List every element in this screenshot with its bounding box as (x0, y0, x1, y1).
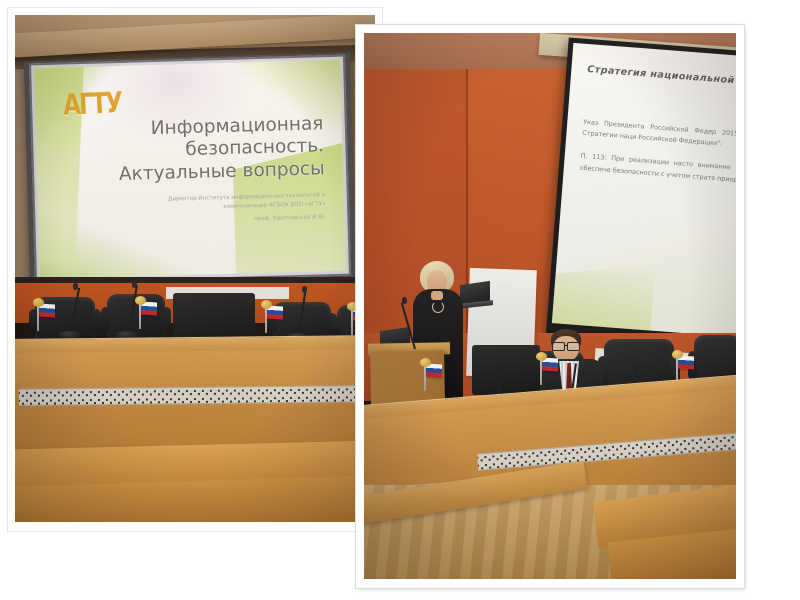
flag-stand (261, 300, 272, 309)
presidium-monitor (173, 293, 255, 341)
speaker-neck (431, 291, 443, 300)
microphone-head (73, 283, 78, 290)
slide-paragraph-1: Указ Президента Российской Федер 2015 го… (582, 117, 736, 154)
podium-microphone-head (402, 297, 407, 304)
presidium-monitor (472, 345, 540, 395)
table-perforated-panel (19, 385, 371, 406)
speaker-necklace (432, 301, 444, 313)
flag-stand (33, 298, 44, 307)
projection-screen-right: Стратегия национальной бе Указ Президент… (546, 37, 736, 352)
table-perforated-panel (477, 430, 736, 471)
photo-right-content: Стратегия национальной бе Указ Президент… (364, 33, 736, 579)
slide-body: Указ Президента Российской Федер 2015 го… (579, 117, 736, 200)
slide-green-accent (552, 265, 656, 338)
flag-stand (672, 350, 683, 359)
microphone-head (302, 286, 307, 293)
agtu-logo-icon: АГТУ (62, 87, 121, 122)
photo-left-content: АГТУ Информационная безопасность. Актуал… (15, 15, 375, 522)
photo-right[interactable]: Стратегия национальной бе Указ Президент… (356, 25, 744, 588)
microphone-head (132, 281, 137, 288)
collage-canvas: АГТУ Информационная безопасность. Актуал… (0, 0, 800, 600)
flag-stand (135, 296, 146, 305)
slide-paragraph-2: П. 113: При реализации насто внимание уд… (580, 151, 736, 188)
slide-content-page: Стратегия национальной бе Указ Президент… (552, 43, 736, 338)
slide-subtitle-line-2: коммуникаций ФГБОУ ВПО «АГТУ» (223, 201, 325, 210)
flag-stand (420, 358, 431, 367)
slide-title-page: АГТУ Информационная безопасность. Актуал… (34, 60, 346, 279)
slide-title: Информационная безопасность. Актуальные … (72, 113, 325, 188)
slide-heading: Стратегия национальной бе (587, 64, 736, 89)
glasses-icon (552, 342, 580, 349)
flag-stand (536, 352, 547, 361)
photo-left[interactable]: АГТУ Информационная безопасность. Актуал… (8, 8, 382, 531)
presidium-table-front (15, 349, 375, 457)
projection-screen-left: АГТУ Информационная безопасность. Актуал… (29, 55, 351, 285)
